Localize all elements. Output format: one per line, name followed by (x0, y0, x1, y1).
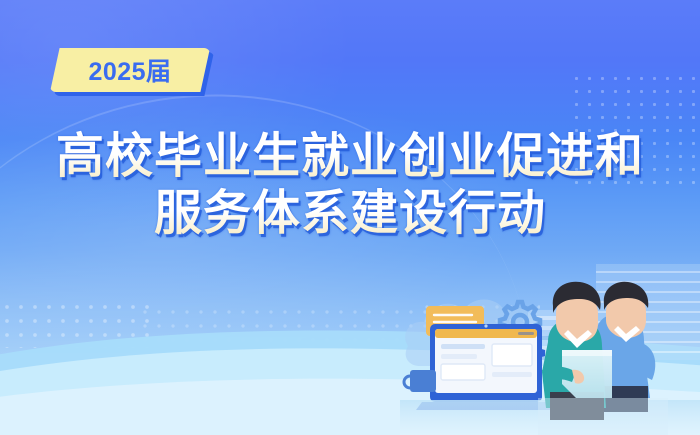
banner-headline: 高校毕业生就业创业促进和 服务体系建设行动 (0, 128, 700, 241)
speech-bubble-icon (426, 306, 484, 346)
person-blue-sweater (592, 282, 655, 412)
year-badge: 2025届 (50, 48, 210, 92)
headline-line-1: 高校毕业生就业创业促进和 (0, 128, 700, 185)
dot-grid-middle-center (138, 305, 438, 347)
cloud-shape (405, 300, 549, 367)
dot-grid-middle-left (0, 300, 152, 348)
gear-icon (491, 326, 545, 380)
wave-band-light (0, 318, 700, 435)
illustration-scene (400, 258, 700, 435)
floor-reflection (400, 400, 700, 435)
promo-banner: 2025届 高校毕业生就业创业促进和 服务体系建设行动 (0, 0, 700, 435)
coffee-mug-icon (404, 370, 436, 392)
year-badge-label: 2025届 (50, 48, 210, 92)
wave-band-pale (0, 372, 700, 435)
wave-band-lighter (0, 340, 700, 435)
ui-bars-backdrop (528, 310, 590, 378)
headline-line-2: 服务体系建设行动 (0, 185, 700, 242)
counter-glass (538, 398, 668, 435)
dot-grid-middle-right (420, 300, 540, 346)
gear-outline-icon (500, 302, 540, 342)
person-teal-sweater (542, 282, 612, 420)
laptop-icon (416, 324, 556, 410)
window-blinds-backdrop (596, 264, 700, 360)
